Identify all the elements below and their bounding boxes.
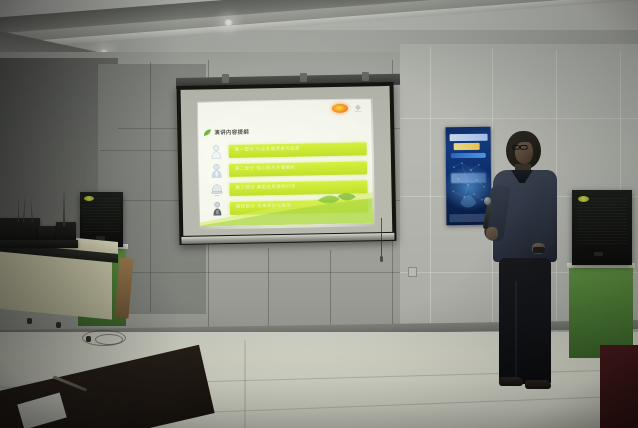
orange-sun-logo bbox=[332, 104, 348, 113]
floor-tile-line bbox=[244, 340, 246, 428]
wall-seam bbox=[150, 62, 151, 312]
dark-red-cabinet bbox=[600, 345, 638, 428]
glasses-icon bbox=[512, 145, 530, 150]
wireless-mic-antennas bbox=[63, 190, 65, 226]
wall-seam bbox=[430, 46, 431, 332]
presenter-hand-mic bbox=[486, 227, 498, 240]
mixer-unit bbox=[0, 218, 40, 242]
projection-screen[interactable]: 演讲内容提纲 第一部分 行业发展背景与趋势 bbox=[176, 82, 396, 245]
wall-power-outlet bbox=[408, 267, 417, 277]
poster-footer bbox=[449, 214, 488, 222]
slide-row-text: 第二部分 核心技术方案解析 bbox=[235, 165, 296, 172]
screen-pull-cord-knob[interactable] bbox=[380, 256, 383, 262]
presenter-leg-split bbox=[515, 281, 517, 377]
person-suit-icon bbox=[209, 162, 223, 178]
presentation-slide: 演讲内容提纲 第一部分 行业发展背景与趋势 bbox=[198, 99, 373, 226]
screen-pull-cord[interactable] bbox=[381, 218, 382, 258]
wall-seam bbox=[330, 250, 331, 332]
laptop-unit bbox=[56, 222, 76, 242]
green-leaf-logo bbox=[202, 128, 212, 137]
slide-row: 第一部分 行业发展背景与趋势 bbox=[209, 141, 367, 159]
speaker-grille bbox=[83, 198, 119, 232]
speaker-brand-badge bbox=[578, 196, 589, 202]
grey-partner-logo bbox=[353, 103, 363, 112]
poster-subhead bbox=[454, 143, 480, 150]
speaker-port bbox=[594, 252, 603, 256]
speaker-brand-badge bbox=[84, 196, 94, 201]
screen-bracket bbox=[362, 72, 369, 81]
desk-caster bbox=[27, 318, 32, 324]
poster-headline bbox=[450, 134, 488, 141]
presenter bbox=[489, 131, 569, 391]
screen-bracket bbox=[222, 74, 229, 83]
desk-caster bbox=[86, 336, 91, 342]
desk-caster bbox=[56, 322, 61, 328]
wall-seam bbox=[268, 248, 269, 332]
slide-row-text: 第一部分 行业发展背景与趋势 bbox=[235, 146, 300, 153]
wireless-mic-antennas bbox=[18, 196, 19, 222]
presenter-shoe-right bbox=[525, 380, 551, 389]
poster-band bbox=[451, 153, 486, 158]
screen-bracket bbox=[300, 73, 307, 82]
microphone-head-icon bbox=[484, 197, 491, 205]
slide-brand-logos bbox=[332, 103, 363, 113]
presenter-trousers bbox=[499, 258, 551, 384]
slide-title: 演讲内容提纲 bbox=[214, 128, 249, 137]
floor-cable-coil bbox=[95, 334, 123, 345]
wall-seam bbox=[400, 118, 638, 119]
poster-body-text bbox=[451, 173, 486, 183]
slide-row: 第二部分 核心技术方案解析 bbox=[209, 160, 367, 178]
ceiling-downlight-right bbox=[224, 19, 233, 26]
green-swoosh-graphic bbox=[200, 189, 374, 226]
rack-unit bbox=[0, 240, 78, 248]
pa-speaker-right bbox=[572, 190, 632, 265]
person-shirt-icon bbox=[209, 143, 223, 159]
conference-room-photo: 演讲内容提纲 第一部分 行业发展背景与趋势 bbox=[0, 0, 638, 428]
remote-clicker-icon bbox=[533, 247, 545, 253]
presenter-shoe-left bbox=[499, 377, 523, 386]
screen-surface: 演讲内容提纲 第一部分 行业发展背景与趋势 bbox=[181, 86, 393, 236]
speaker-grille bbox=[577, 198, 627, 245]
wall-seam bbox=[118, 272, 400, 273]
wall-poster bbox=[445, 127, 491, 225]
